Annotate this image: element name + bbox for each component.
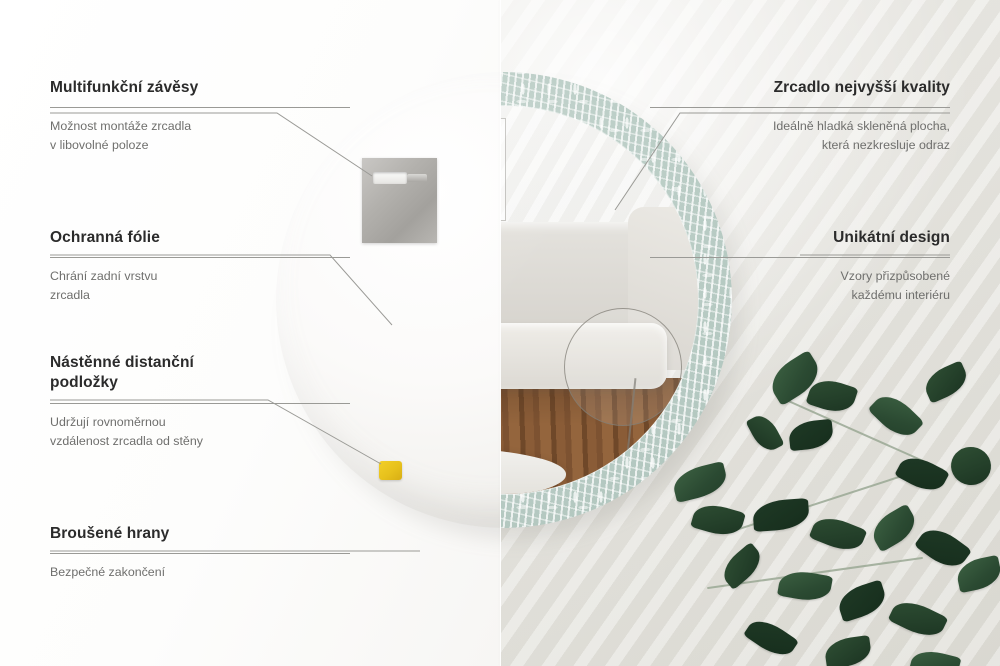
callout-description: Vzory přizpůsobené každému interiéru: [650, 267, 950, 304]
callout-description: Udržují rovnoměrnou vzdálenost zrcadla o…: [50, 413, 350, 450]
callout-title: Unikátní design: [650, 228, 950, 248]
plant-foliage: [680, 348, 1000, 666]
callout-title: Ochranná fólie: [50, 228, 350, 248]
bracket-screw-track: [407, 174, 427, 182]
callout-title: Broušené hrany: [50, 524, 350, 544]
plant-leaf: [888, 595, 949, 644]
bracket-keyhole-slot: [373, 172, 407, 184]
plant-leaf: [752, 498, 810, 532]
plant-leaf: [909, 646, 962, 666]
plant-leaf: [743, 613, 799, 663]
plant-leaf: [788, 418, 835, 450]
plant-leaf: [745, 410, 784, 455]
callout-rule: [50, 107, 350, 108]
callout-zrcadlo-nejvyssi-kvality: Zrcadlo nejvyšší kvality Ideálně hladká …: [650, 78, 950, 155]
callout-description: Možnost montáže zrcadla v libovolné polo…: [50, 117, 350, 154]
hanging-bracket-plate: [362, 158, 437, 243]
panel-divider: [500, 0, 501, 666]
callout-rule: [650, 107, 950, 108]
plant-leaf: [920, 360, 972, 403]
plant-leaf: [777, 568, 833, 605]
plant-leaf: [868, 388, 925, 444]
callout-rule: [50, 553, 350, 554]
plant-leaf: [809, 511, 868, 556]
callout-ochranna-folie: Ochranná fólie Chrání zadní vrstvu zrcad…: [50, 228, 350, 305]
callout-description: Bezpečné zakončení: [50, 563, 350, 582]
plant-leaf: [716, 541, 766, 589]
callout-rule: [50, 403, 350, 404]
callout-unikatni-design: Unikátní design Vzory přizpůsobené každé…: [650, 228, 950, 305]
callout-rule: [50, 257, 350, 258]
callout-brousene-hrany: Broušené hrany Bezpečné zakončení: [50, 524, 350, 582]
plant-leaf: [823, 635, 872, 666]
wall-distance-pad: [379, 461, 402, 480]
plant-leaf: [690, 500, 746, 541]
callout-nastenne-distancni-podlozky: Nástěnné distanční podložky Udržují rovn…: [50, 353, 350, 450]
callout-title: Multifunkční závěsy: [50, 78, 350, 98]
plant-leaf: [867, 504, 922, 553]
callout-rule: [650, 257, 950, 258]
callout-multifunkcni-zavesy: Multifunkční závěsy Možnost montáže zrca…: [50, 78, 350, 155]
plant-leaf: [948, 444, 993, 487]
callout-title: Nástěnné distanční podložky: [50, 353, 350, 394]
plant-leaf: [835, 579, 890, 622]
callout-title: Zrcadlo nejvyšší kvality: [650, 78, 950, 98]
infographic-canvas: Multifunkční závěsy Možnost montáže zrca…: [0, 0, 1000, 666]
callout-description: Chrání zadní vrstvu zrcadla: [50, 267, 350, 304]
callout-description: Ideálně hladká skleněná plocha, která ne…: [650, 117, 950, 154]
plant-leaf: [894, 451, 950, 498]
plant-leaf: [671, 461, 731, 503]
